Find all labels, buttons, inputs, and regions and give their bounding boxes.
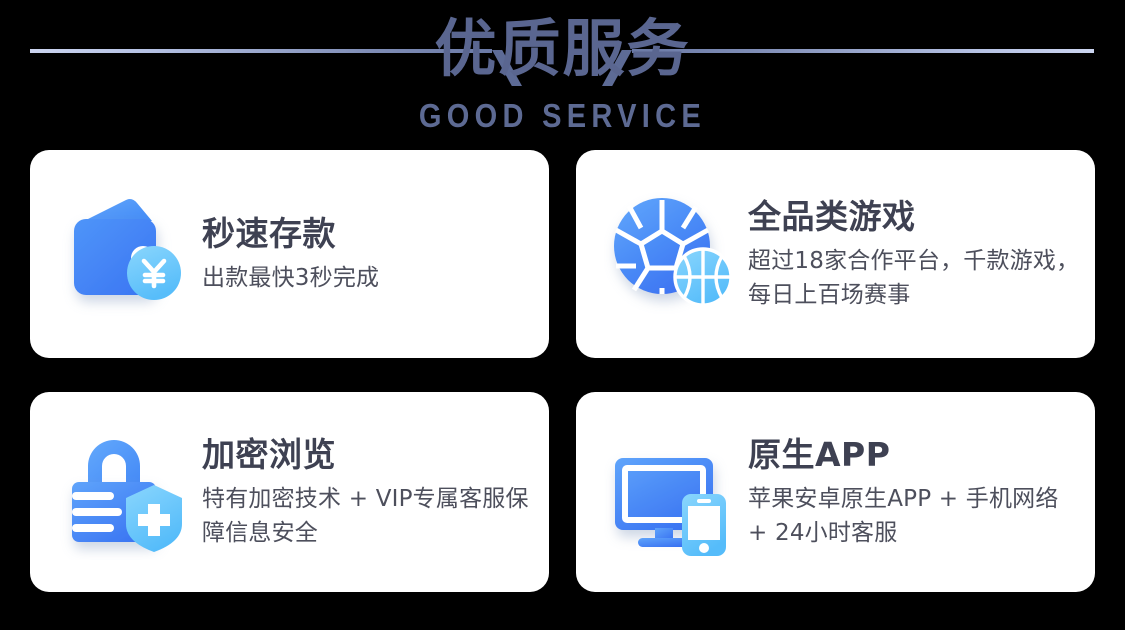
page-title: 优质服务 [0, 10, 1125, 88]
card-description: 苹果安卓原生APP + 手机网络 + 24小时客服 [748, 482, 1081, 550]
page-subtitle: GOOD SERVICE [68, 98, 1058, 134]
page-header: 优质服务 GOOD SERVICE [0, 0, 1125, 145]
card-text-block: 加密浏览 特有加密技术 + VIP专属客服保障信息安全 [202, 435, 549, 550]
feature-card-games[interactable]: 全品类游戏 超过18家合作平台，千款游戏，每日上百场赛事 [576, 150, 1095, 358]
card-description: 出款最快3秒完成 [202, 261, 535, 295]
feature-card-deposit[interactable]: 秒速存款 出款最快3秒完成 [30, 150, 549, 358]
wallet-with-yen-coin-icon [58, 186, 194, 322]
feature-card-native-app[interactable]: 原生APP 苹果安卓原生APP + 手机网络 + 24小时客服 [576, 392, 1095, 592]
card-description: 超过18家合作平台，千款游戏，每日上百场赛事 [748, 244, 1081, 312]
card-title: 加密浏览 [202, 435, 535, 475]
card-title: 全品类游戏 [748, 197, 1081, 237]
card-title: 原生APP [748, 435, 1081, 475]
feature-card-grid: 秒速存款 出款最快3秒完成 [30, 150, 1095, 592]
card-title: 秒速存款 [202, 214, 535, 254]
card-description: 特有加密技术 + VIP专属客服保障信息安全 [202, 482, 535, 550]
padlock-with-shield-icon [58, 424, 194, 560]
card-text-block: 全品类游戏 超过18家合作平台，千款游戏，每日上百场赛事 [748, 197, 1095, 312]
card-text-block: 原生APP 苹果安卓原生APP + 手机网络 + 24小时客服 [748, 435, 1095, 550]
card-text-block: 秒速存款 出款最快3秒完成 [202, 214, 549, 295]
monitor-with-phone-icon [604, 424, 740, 560]
soccer-ball-with-basketball-icon [604, 186, 740, 322]
feature-card-encryption[interactable]: 加密浏览 特有加密技术 + VIP专属客服保障信息安全 [30, 392, 549, 592]
